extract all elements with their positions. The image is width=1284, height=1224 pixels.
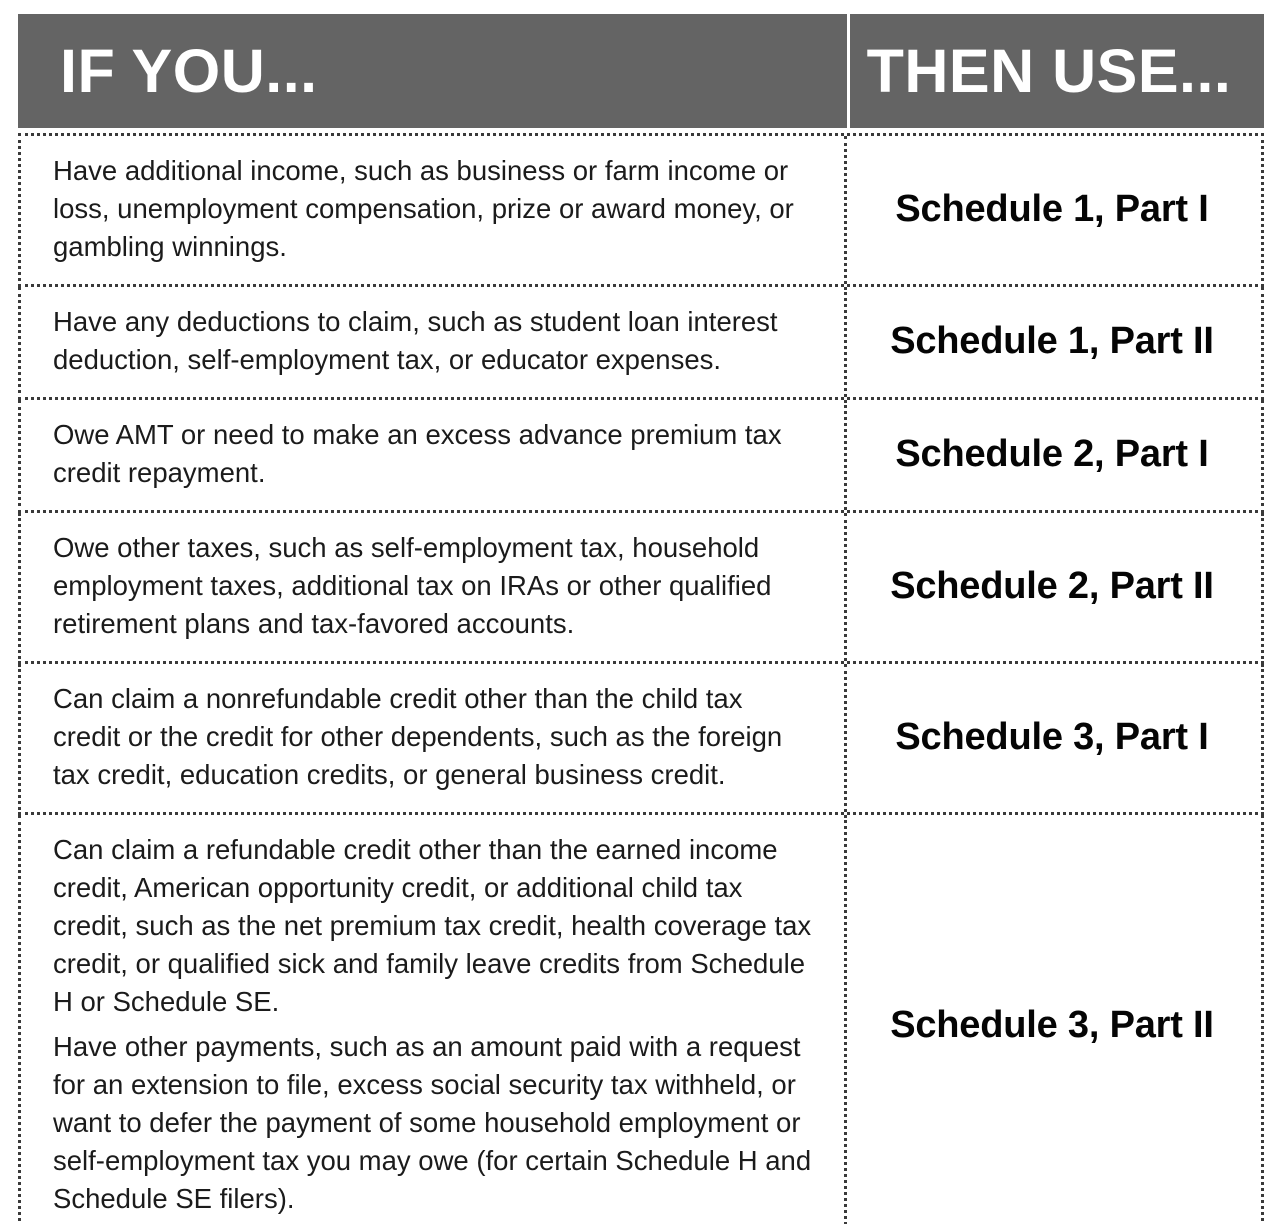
table-row: Can claim a refundable credit other than… <box>18 815 1264 1224</box>
table-row: Have any deductions to claim, such as st… <box>18 287 1264 400</box>
cell-then-use: Schedule 3, Part I <box>847 664 1261 812</box>
table-header-cell-then-use: THEN USE... <box>850 14 1264 128</box>
cell-then-use: Schedule 1, Part II <box>847 287 1261 397</box>
schedule-reference-table-page: IF YOU... THEN USE... Have additional in… <box>0 0 1284 1224</box>
if-you-paragraph: Can claim a refundable credit other than… <box>53 831 814 1021</box>
schedule-label: Schedule 1, Part II <box>890 320 1214 364</box>
schedule-label: Schedule 1, Part I <box>895 188 1208 232</box>
if-you-paragraph: Have other payments, such as an amount p… <box>53 1028 814 1218</box>
schedule-label: Schedule 2, Part I <box>895 433 1208 477</box>
table-row: Can claim a nonrefundable credit other t… <box>18 664 1264 815</box>
cell-if-you: Owe other taxes, such as self-employment… <box>21 513 847 661</box>
column-header-then-use: THEN USE... <box>867 41 1232 102</box>
table-row: Owe other taxes, such as self-employment… <box>18 513 1264 664</box>
cell-if-you: Can claim a refundable credit other than… <box>21 815 847 1224</box>
if-you-paragraph: Owe other taxes, such as self-employment… <box>53 529 814 643</box>
table-row: Have additional income, such as business… <box>18 133 1264 287</box>
cell-then-use: Schedule 3, Part II <box>847 815 1261 1224</box>
table-row: Owe AMT or need to make an excess advanc… <box>18 400 1264 513</box>
if-you-paragraph: Have additional income, such as business… <box>53 152 814 266</box>
table-body: Have additional income, such as business… <box>18 133 1264 1224</box>
table-header-cell-if-you: IF YOU... <box>18 14 847 128</box>
cell-then-use: Schedule 2, Part II <box>847 513 1261 661</box>
column-header-if-you: IF YOU... <box>60 41 318 102</box>
cell-then-use: Schedule 2, Part I <box>847 400 1261 510</box>
cell-if-you: Have any deductions to claim, such as st… <box>21 287 847 397</box>
schedule-label: Schedule 3, Part I <box>895 716 1208 760</box>
cell-if-you: Can claim a nonrefundable credit other t… <box>21 664 847 812</box>
if-you-paragraph: Can claim a nonrefundable credit other t… <box>53 680 814 794</box>
schedule-label: Schedule 3, Part II <box>890 1004 1214 1048</box>
schedule-label: Schedule 2, Part II <box>890 565 1214 609</box>
cell-if-you: Have additional income, such as business… <box>21 136 847 284</box>
if-you-paragraph: Have any deductions to claim, such as st… <box>53 303 814 379</box>
table-header: IF YOU... THEN USE... <box>18 14 1264 128</box>
cell-if-you: Owe AMT or need to make an excess advanc… <box>21 400 847 510</box>
if-you-paragraph: Owe AMT or need to make an excess advanc… <box>53 416 814 492</box>
cell-then-use: Schedule 1, Part I <box>847 136 1261 284</box>
